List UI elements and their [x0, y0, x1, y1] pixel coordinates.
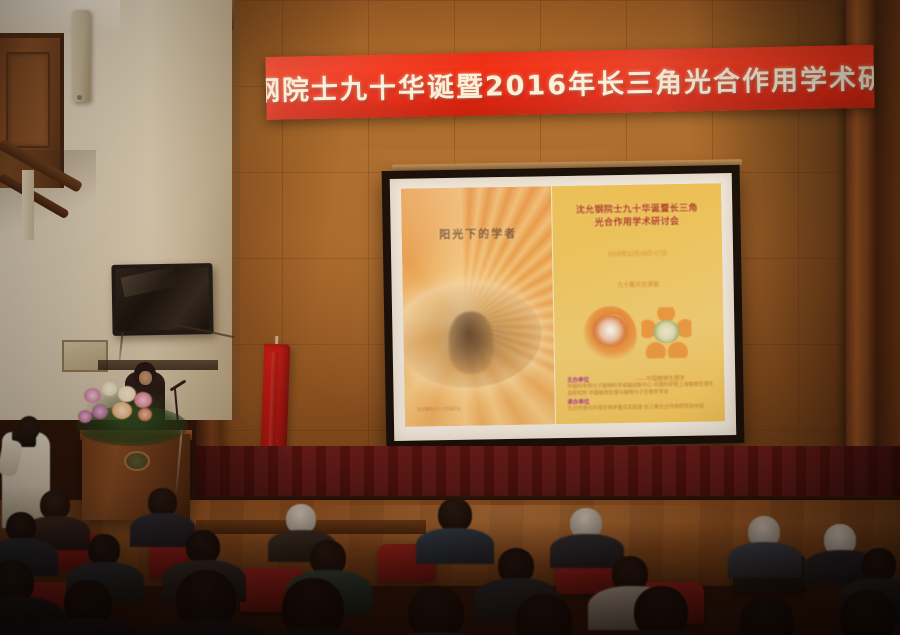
bloom: [102, 382, 117, 396]
podium-emblem-icon: [124, 451, 150, 471]
slide-portrait-figure: [448, 311, 494, 374]
event-banner: 沈允钢院士九十华诞暨2016年长三角光合作用学术研讨会: [265, 45, 874, 120]
bloom: [138, 408, 152, 421]
tv-shelf: [98, 360, 218, 370]
wall-speaker-led: [77, 95, 82, 100]
slide-sponsor-block: 主办单位 中国科学院分子植物科学卓越创新中心 中国科学院上海植物生理生态研究所 …: [567, 374, 716, 414]
slide-left-pane: 阳光下的学者 沈允钢院士九十华诞纪念: [401, 186, 555, 427]
presentation-slide: 阳光下的学者 沈允钢院士九十华诞纪念 沈允钢院士九十华诞暨长三角 光合作用学术研…: [401, 183, 725, 427]
banner-title: 沈允钢院士九十华诞暨2016年长三角光合作用学术研讨会: [265, 55, 874, 109]
bloom: [92, 404, 108, 419]
wall-speaker-icon: [72, 10, 90, 102]
right-pilaster-outer: [876, 0, 900, 520]
slide-right-pane: 沈允钢院士九十华诞暨长三角 光合作用学术研讨会 2016年12月16日-17日 …: [551, 183, 725, 424]
bloom: [112, 402, 132, 419]
slide-left-footnote: 沈允钢院士九十华诞纪念: [417, 404, 543, 412]
slide-title-block: 沈允钢院士九十华诞暨长三角 光合作用学术研讨会: [559, 200, 715, 229]
audience-area: [0, 486, 900, 635]
sponsor-body-2: 光合作用与环境生物学重点实验室 长三角光合作用研究协作组: [568, 404, 717, 414]
slide-emblem-group: [581, 298, 697, 371]
auditorium-photo: 沈允钢院士九十华诞暨2016年长三角光合作用学术研讨会 阳光下的学者 沈允钢院士…: [0, 0, 900, 635]
stair-post: [22, 170, 34, 240]
flower-arrangement: [78, 382, 182, 450]
door-panel: [6, 52, 50, 148]
bloom: [84, 388, 101, 403]
left-wall-upper: [0, 0, 120, 34]
emblem-round-core-icon: [602, 323, 618, 338]
left-wall-shadow: [150, 0, 240, 420]
slide-date: 2016年12月16日-17日: [560, 248, 716, 260]
slide-calligraphy-text: 阳光下的学者: [421, 225, 535, 243]
bloom: [134, 392, 152, 408]
slide-subtitle: 九十载光合求索: [560, 279, 716, 291]
bloom: [78, 410, 92, 423]
slide-title-line-2: 光合作用学术研讨会: [559, 213, 715, 229]
